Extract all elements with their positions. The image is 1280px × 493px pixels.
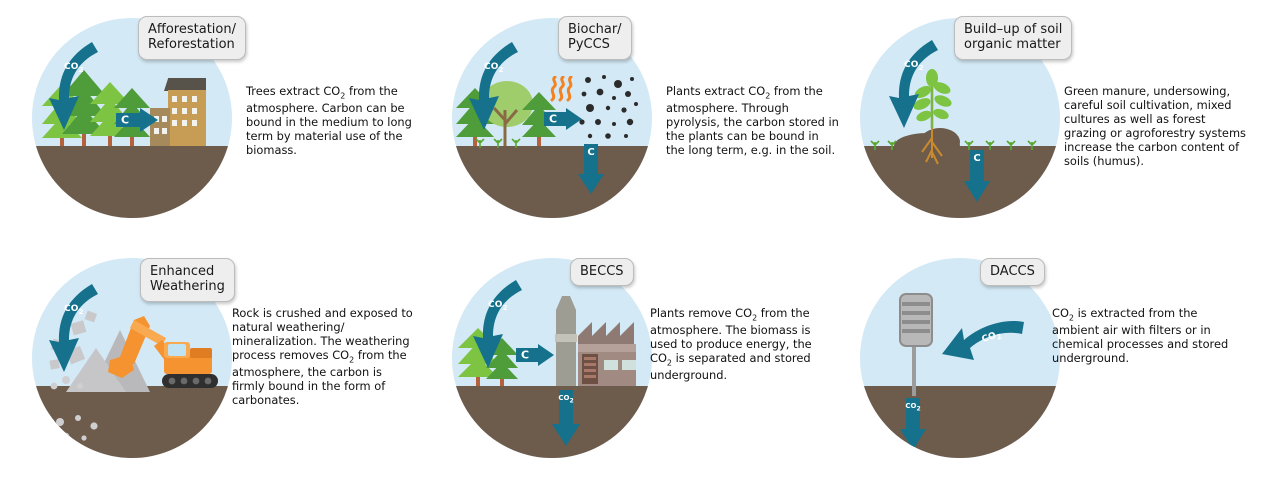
co2-storage-arrow: CO2 [900, 398, 926, 450]
panel-label-daccs: DACCS [980, 258, 1045, 286]
panel-label-enhanced-weathering: Enhanced Weathering [140, 258, 235, 302]
storage-arrow-label: C [964, 153, 990, 164]
carbon-storage-arrow: C [578, 144, 604, 194]
co2-intake-arrow: CO2 [888, 38, 948, 130]
panel-afforestation: C CO2 Afforestation/ Reforestation Trees… [0, 0, 427, 247]
panel-biochar: C [420, 0, 847, 247]
co2-arrow-label: CO2 [904, 60, 924, 72]
panel-beccs: C [420, 246, 847, 493]
factory-icon [548, 288, 648, 386]
soil-layer [32, 146, 232, 218]
panel-description: Green manure, undersowing, careful soil … [1064, 84, 1250, 168]
panel-label-soil-organic-matter: Build–up of soil organic matter [954, 16, 1072, 60]
carbon-storage-arrow: C [964, 150, 990, 202]
panel-daccs: CO2 CO2 DACCS CO2 is extracted from the … [828, 246, 1255, 493]
panel-label-afforestation: Afforestation/ Reforestation [138, 16, 246, 60]
panel-label-beccs: BECCS [570, 258, 634, 286]
co2-arrow-label: CO2 [484, 62, 504, 74]
scene-daccs: CO2 CO2 [860, 258, 1060, 458]
soil-layer [860, 386, 1060, 458]
biochar-particles [578, 74, 640, 144]
panel-description: Plants remove CO2 from the atmosphere. T… [650, 306, 820, 382]
co2-arrow-label: CO2 [64, 304, 84, 316]
grass-sprout-icon [870, 138, 904, 150]
co2-intake-arrow: CO2 [472, 278, 532, 370]
direct-air-capture-unit [894, 292, 938, 396]
storage-arrow-label: CO2 [552, 394, 580, 404]
co2-intake-arrow: CO2 [468, 40, 528, 132]
building-icon [150, 78, 210, 146]
storage-arrow-label: CO2 [900, 402, 926, 412]
co2-storage-arrow: CO2 [552, 390, 580, 446]
panel-soil-organic-matter: C CO2 Build–up of soil organic matter Gr… [828, 0, 1255, 247]
excavator-icon [104, 304, 222, 394]
rock-debris [50, 414, 120, 444]
soil-layer [452, 146, 652, 218]
grass-sprout-icon [964, 138, 1040, 150]
grass-sprout-icon [476, 136, 522, 148]
carbon-arrow-label: C [549, 113, 557, 126]
co2-intake-arrow: CO2 [48, 40, 108, 132]
panel-enhanced-weathering: CO2 Enhanced Weathering Rock is crushed … [0, 246, 427, 493]
panel-description: Rock is crushed and exposed to natural w… [232, 306, 418, 407]
panel-description: Trees extract CO2 from the atmosphere. C… [246, 84, 421, 157]
co2-arrow-label: CO2 [64, 62, 84, 74]
carbon-transfer-arrow: C [116, 108, 158, 132]
panel-description: Plants extract CO2 from the atmosphere. … [666, 84, 841, 157]
co2-arrow-label: CO2 [488, 300, 508, 312]
panel-description: CO2 is extracted from the ambient air wi… [1052, 306, 1238, 365]
carbon-transfer-arrow: C [544, 108, 582, 130]
heat-pyrolysis-icon [548, 76, 574, 102]
storage-arrow-label: C [578, 147, 604, 158]
co2-intake-arrow: CO2 [48, 282, 108, 374]
scene-beccs: C [452, 258, 652, 458]
cdr-methods-infographic: C CO2 Afforestation/ Reforestation Trees… [0, 0, 1280, 493]
panel-label-biochar: Biochar/ PyCCS [558, 16, 632, 60]
co2-intake-arrow: CO2 [942, 316, 1026, 378]
carbon-arrow-label: C [121, 114, 129, 127]
